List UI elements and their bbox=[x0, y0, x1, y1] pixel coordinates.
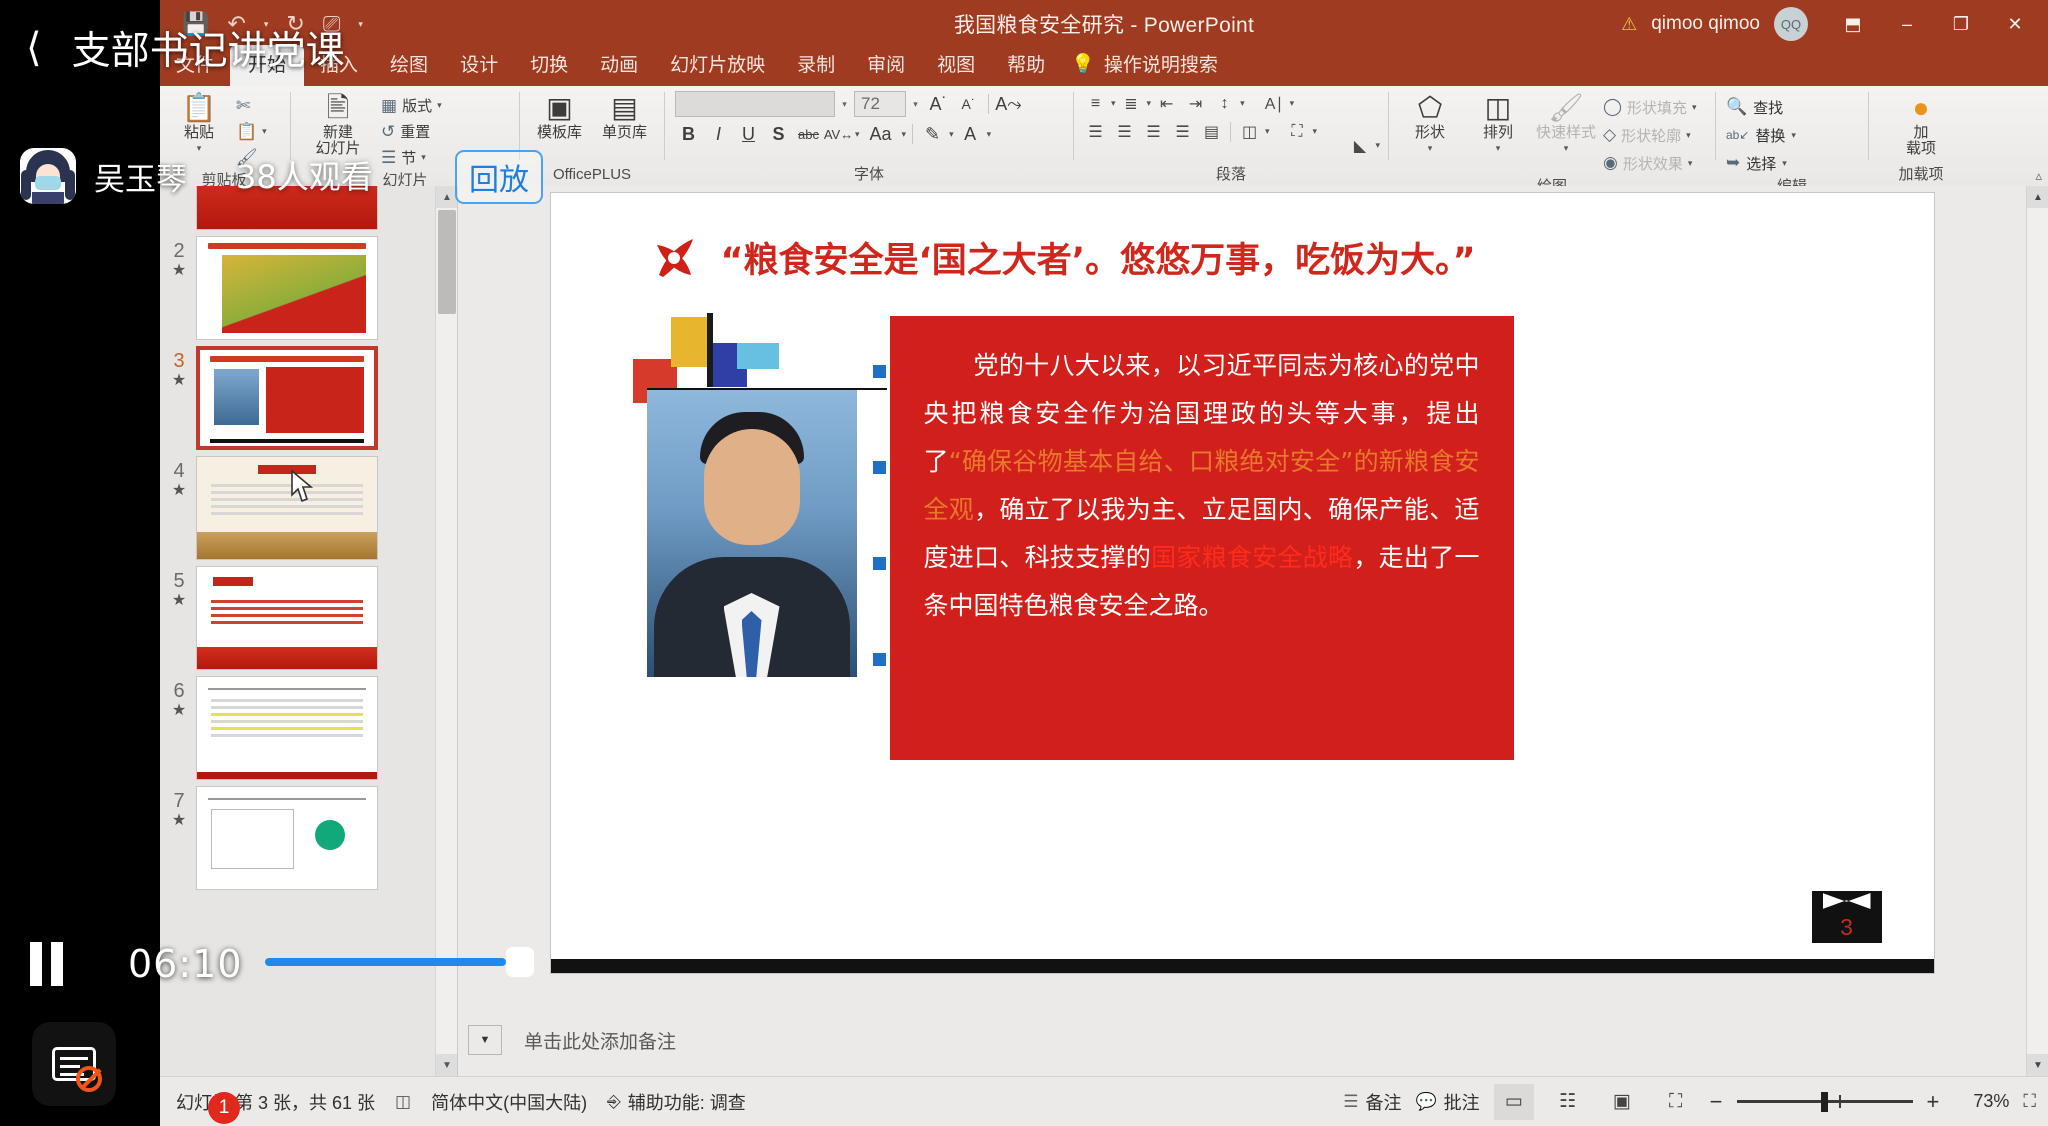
paragraph-row-2: ☰ ☰ ☰ ☰ ▤ ◫ ▾ ⛶ ▾ bbox=[1082, 119, 1317, 144]
zoom-slider-knob[interactable] bbox=[1821, 1092, 1828, 1112]
scroll-up-arrow-icon[interactable]: ▲ bbox=[2027, 186, 2048, 208]
streamer-name: 吴玉琴 bbox=[94, 154, 187, 199]
thumbnail-preview-current[interactable] bbox=[196, 346, 378, 450]
numbered-list-caret[interactable]: ▾ bbox=[1147, 98, 1152, 109]
notes-pane[interactable]: ▼ 单击此处添加备注 bbox=[458, 1004, 2026, 1076]
layout-icon: ▦ bbox=[381, 96, 397, 116]
slide-badge-number: 3 bbox=[1840, 914, 1853, 941]
shape-outline-icon: ◇ bbox=[1603, 125, 1616, 145]
replace-label: 替换 bbox=[1755, 125, 1785, 146]
section-dropdown-caret[interactable]: ▾ bbox=[421, 152, 426, 163]
reading-view-button[interactable]: ▣ bbox=[1602, 1084, 1642, 1120]
comments-toggle-button[interactable]: 💬 批注 bbox=[1416, 1089, 1480, 1115]
close-button[interactable]: ✕ bbox=[1992, 3, 2038, 45]
comment-icon: 💬 bbox=[1416, 1092, 1437, 1112]
align-text-vertical-caret[interactable]: ▾ bbox=[1313, 126, 1318, 137]
italic-button[interactable]: I bbox=[705, 121, 732, 147]
slide-editing-surface[interactable]: “粮食安全是‘国之大者’。悠悠万事，吃饭为大。” 党的十八大以来， bbox=[550, 192, 1935, 974]
list-item[interactable]: 6 ★ bbox=[160, 670, 457, 780]
group-editing: 🔍查找 ab↙替换▾ ➥选择▾ 编辑 bbox=[1718, 86, 1866, 186]
group-paragraph: ≡ ▾ ≣ ▾ ⇤ ⇥ ↕ ▾ A∣ ▾ ☰ ☰ ☰ ☰ ▤ bbox=[1076, 86, 1386, 186]
thumbnail-number: 3 bbox=[173, 350, 184, 372]
font-color-caret[interactable]: ▾ bbox=[987, 129, 992, 140]
align-left-icon[interactable]: ☰ bbox=[1082, 119, 1109, 144]
badge-mark-icon bbox=[1823, 893, 1871, 909]
font-row-1: ▾ 72 ▾ A˙ A˙ A⤳ bbox=[675, 91, 1022, 117]
thumbnail-preview[interactable] bbox=[196, 676, 378, 780]
notes-placeholder[interactable]: 单击此处添加备注 bbox=[524, 1027, 676, 1054]
replay-badge[interactable]: 回放 bbox=[455, 150, 543, 204]
tab-record[interactable]: 录制 bbox=[781, 46, 851, 86]
language-label[interactable]: 简体中文(中国大陆) bbox=[431, 1089, 587, 1115]
group-officeplus-label: OfficePLUS bbox=[522, 164, 662, 186]
thumbnail-meta: 5 ★ bbox=[162, 566, 196, 609]
layout-dropdown-caret[interactable]: ▾ bbox=[437, 100, 442, 111]
ribbon: 📋 粘贴 ▾ ✄ 📋▾ 🖌 剪贴板 🖹 新建 幻灯片 bbox=[160, 86, 2048, 186]
quick-styles-caret[interactable]: ▾ bbox=[1564, 143, 1569, 154]
numbered-list-icon[interactable]: ≣ bbox=[1118, 91, 1145, 116]
spellcheck-icon[interactable]: ◫ bbox=[395, 1092, 411, 1112]
status-bar-right: ☰ 备注 💬 批注 ▭ ☷ ▣ ⛶ − + 73% ⛶ bbox=[1343, 1084, 2036, 1120]
group-addins: ● 加 载项 加载项 bbox=[1871, 86, 1971, 186]
lightbulb-icon: 💡 bbox=[1071, 52, 1095, 76]
list-item[interactable]: 2 ★ bbox=[160, 230, 457, 340]
tell-me-search[interactable]: 💡 操作说明搜索 bbox=[1061, 46, 1228, 86]
animation-star-icon: ★ bbox=[172, 592, 186, 609]
align-center-icon[interactable]: ☰ bbox=[1111, 119, 1138, 144]
quick-styles-icon: 🖌 bbox=[1548, 93, 1584, 123]
template-library-button[interactable]: ▣ 模板库 bbox=[530, 90, 589, 141]
streamer-info[interactable]: 吴玉琴 bbox=[20, 148, 187, 204]
minimize-button[interactable]: – bbox=[1884, 3, 1930, 45]
new-slide-icon: 🖹 bbox=[327, 93, 350, 123]
avatar[interactable] bbox=[20, 148, 76, 204]
slideshow-view-button[interactable]: ⛶ bbox=[1656, 1084, 1696, 1120]
slide-thumbnail-pane[interactable]: 2 ★ 3 ★ bbox=[160, 186, 458, 1076]
thumbnail-preview[interactable] bbox=[196, 456, 378, 560]
increase-indent-icon[interactable]: ⇥ bbox=[1182, 91, 1209, 116]
title-bar: 💾 ↶ ▾ ↻ ⎚ ▾ 我国粮食安全研究 - PowerPoint ⚠ qimo… bbox=[160, 0, 2048, 48]
chevron-left-icon[interactable]: ⟨ bbox=[26, 28, 42, 68]
paste-label: 粘贴 bbox=[184, 125, 214, 141]
chevron-up-icon[interactable]: ▵ bbox=[2035, 168, 2042, 184]
shape-fill-caret[interactable]: ▾ bbox=[1692, 102, 1697, 113]
divider bbox=[1388, 92, 1389, 160]
template-library-icon: ▣ bbox=[546, 93, 572, 123]
list-item[interactable]: 7 ★ bbox=[160, 780, 457, 890]
selection-handle[interactable] bbox=[873, 461, 886, 474]
slide-title-text: “粮食安全是‘国之大者’。悠悠万事，吃饭为大。” bbox=[721, 232, 1476, 283]
thumbnail-meta: 7 ★ bbox=[162, 786, 196, 829]
ribbon-display-options-button[interactable]: ⬒ bbox=[1830, 3, 1876, 45]
shape-fill-button[interactable]: ◯形状填充▾ bbox=[1603, 94, 1697, 120]
thumbnail-preview[interactable] bbox=[196, 786, 378, 890]
shape-effects-caret[interactable]: ▾ bbox=[1688, 158, 1693, 169]
tab-draw[interactable]: 绘图 bbox=[374, 46, 444, 86]
scroll-down-arrow-icon[interactable]: ▼ bbox=[2027, 1054, 2048, 1076]
select-button[interactable]: ➥选择▾ bbox=[1726, 150, 1796, 176]
find-label: 查找 bbox=[1753, 97, 1783, 118]
tab-view[interactable]: 视图 bbox=[921, 46, 991, 86]
divider bbox=[1073, 92, 1074, 160]
slides-small-buttons: ▦版式▾ ↺重置 ☰节▾ bbox=[381, 90, 442, 170]
character-spacing-icon[interactable]: AV↔ bbox=[825, 121, 852, 147]
slide-count-label: 幻灯片 第 3 张，共 61 张 bbox=[176, 1089, 375, 1115]
text-highlight-icon[interactable]: ✎ bbox=[919, 121, 946, 147]
editing-buttons: 🔍查找 ab↙替换▾ ➥选择▾ bbox=[1726, 90, 1796, 176]
group-paragraph-body: ≡ ▾ ≣ ▾ ⇤ ⇥ ↕ ▾ A∣ ▾ ☰ ☰ ☰ ☰ ▤ bbox=[1076, 86, 1386, 164]
thumbnail-number: 6 bbox=[173, 680, 184, 702]
pause-icon[interactable] bbox=[30, 942, 70, 986]
justify-icon[interactable]: ☰ bbox=[1169, 119, 1196, 144]
title-bar-right: ⚠ qimoo qimoo QQ ⬒ – ❐ ✕ bbox=[1621, 0, 2038, 48]
shape-outline-caret[interactable]: ▾ bbox=[1686, 130, 1691, 141]
shapes-caret[interactable]: ▾ bbox=[1428, 143, 1433, 154]
status-bar-left: 幻灯片 第 3 张，共 61 张 ◫ 简体中文(中国大陆) ⎆ 辅助功能: 调查 bbox=[160, 1089, 746, 1115]
tab-animations[interactable]: 动画 bbox=[584, 46, 654, 86]
scrollbar-thumb[interactable] bbox=[438, 210, 456, 314]
shape-outline-label: 形状轮廓 bbox=[1621, 125, 1681, 146]
addin-dot-icon: ● bbox=[1913, 93, 1930, 123]
status-bar: 幻灯片 第 3 张，共 61 张 ◫ 简体中文(中国大陆) ⎆ 辅助功能: 调查… bbox=[160, 1076, 2048, 1126]
font-name-input[interactable] bbox=[675, 91, 835, 117]
zoom-slider-midpoint bbox=[1839, 1095, 1841, 1108]
thumbnail-number: 5 bbox=[173, 570, 184, 592]
selection-handle[interactable] bbox=[873, 653, 886, 666]
editor-main: 2 ★ 3 ★ bbox=[160, 186, 2048, 1076]
single-page-library-icon: ▤ bbox=[611, 93, 637, 123]
smartart-caret[interactable]: ▾ bbox=[1375, 140, 1380, 151]
paste-dropdown-caret[interactable]: ▾ bbox=[197, 143, 202, 154]
group-officeplus-body: ▣ 模板库 ▤ 单页库 bbox=[522, 86, 662, 164]
quick-styles-label: 快速样式 bbox=[1536, 125, 1596, 141]
tab-transitions[interactable]: 切换 bbox=[514, 46, 584, 86]
group-editing-body: 🔍查找 ab↙替换▾ ➥选择▾ bbox=[1718, 86, 1866, 176]
strikethrough-button[interactable]: abc bbox=[795, 121, 822, 147]
shape-fill-icon: ◯ bbox=[1603, 97, 1622, 117]
line-spacing-caret[interactable]: ▾ bbox=[1240, 98, 1245, 109]
font-size-dropdown-caret[interactable]: ▾ bbox=[909, 91, 922, 117]
group-addins-label: 加载项 bbox=[1871, 164, 1971, 186]
notes-toggle-button[interactable]: ☰ 备注 bbox=[1343, 1089, 1401, 1115]
paste-clipboard-icon: 📋 bbox=[182, 93, 217, 123]
replace-button[interactable]: ab↙替换▾ bbox=[1726, 122, 1796, 148]
slide-title-block[interactable]: “粮食安全是‘国之大者’。悠悠万事，吃饭为大。” bbox=[649, 231, 1874, 283]
reset-icon: ↺ bbox=[381, 122, 395, 142]
addins-button[interactable]: ● 加 载项 bbox=[1890, 90, 1952, 157]
animation-star-icon: ★ bbox=[172, 482, 186, 499]
comments-label: 批注 bbox=[1444, 1089, 1480, 1115]
find-button[interactable]: 🔍查找 bbox=[1726, 94, 1796, 120]
group-officeplus: ▣ 模板库 ▤ 单页库 OfficePLUS bbox=[522, 86, 662, 186]
distribute-icon[interactable]: ▤ bbox=[1198, 119, 1225, 144]
normal-view-button[interactable]: ▭ bbox=[1494, 1084, 1534, 1120]
shape-effects-button[interactable]: ◉形状效果▾ bbox=[1603, 150, 1697, 176]
ribbon-tabs: 文件 开始 插入 绘图 设计 切换 动画 幻灯片放映 录制 审阅 视图 帮助 💡… bbox=[160, 48, 2048, 86]
group-paragraph-label: 段落 bbox=[1076, 164, 1386, 186]
font-name-dropdown-caret[interactable]: ▾ bbox=[838, 91, 851, 117]
shapes-button[interactable]: ⬠ 形状 ▾ bbox=[1399, 90, 1461, 154]
section-button[interactable]: ☰节▾ bbox=[381, 145, 442, 170]
accessibility-label: 辅助功能: 调查 bbox=[628, 1089, 746, 1115]
group-font-label: 字体 bbox=[667, 164, 1071, 186]
restore-button[interactable]: ❐ bbox=[1938, 3, 1984, 45]
slide-sorter-view-button[interactable]: ☷ bbox=[1548, 1084, 1588, 1120]
paste-button[interactable]: 📋 粘贴 ▾ bbox=[168, 90, 230, 154]
zoom-percent-label[interactable]: 73% bbox=[1953, 1091, 2009, 1112]
selection-handle[interactable] bbox=[873, 365, 886, 378]
warning-triangle-icon[interactable]: ⚠ bbox=[1621, 14, 1637, 35]
progress-slider[interactable] bbox=[265, 958, 1928, 968]
group-font-body: ▾ 72 ▾ A˙ A˙ A⤳ B I U S abc AV↔ ▾ Aa bbox=[667, 86, 1071, 164]
font-color-button[interactable]: A bbox=[957, 121, 984, 147]
arrange-button[interactable]: ◫ 排列 ▾ bbox=[1467, 90, 1529, 154]
list-item[interactable]: 3 ★ bbox=[160, 340, 457, 450]
content-paragraph: 党的十八大以来，以习近平同志为核心的党中央把粮食安全作为治国理政的头等大事，提出… bbox=[924, 342, 1480, 630]
new-slide-button[interactable]: 🖹 新建 幻灯片 bbox=[301, 90, 375, 157]
mouse-cursor bbox=[290, 470, 316, 504]
group-addins-body: ● 加 载项 bbox=[1871, 86, 1971, 164]
reset-label: 重置 bbox=[400, 121, 430, 142]
drawing-small-buttons: ◯形状填充▾ ◇形状轮廓▾ ◉形状效果▾ bbox=[1603, 90, 1697, 176]
shapes-icon: ⬠ bbox=[1418, 93, 1442, 123]
replace-caret[interactable]: ▾ bbox=[1791, 130, 1796, 141]
shrink-font-icon[interactable]: A˙ bbox=[955, 91, 982, 117]
line-spacing-icon[interactable]: ↕ bbox=[1211, 91, 1238, 116]
thumbnail-number: 2 bbox=[173, 240, 184, 262]
accessibility-status[interactable]: ⎆ 辅助功能: 调查 bbox=[607, 1089, 746, 1115]
tab-slideshow[interactable]: 幻灯片放映 bbox=[654, 46, 781, 86]
portrait-photo[interactable] bbox=[647, 389, 857, 677]
thumbnail-number: 7 bbox=[173, 790, 184, 812]
replace-icon: ab↙ bbox=[1726, 128, 1749, 142]
animation-star-icon: ★ bbox=[172, 372, 186, 389]
animation-star-icon: ★ bbox=[172, 812, 186, 829]
font-row-2: B I U S abc AV↔ ▾ Aa ▾ ✎ ▾ A ▾ bbox=[675, 121, 991, 147]
thumbnail-meta: 3 ★ bbox=[162, 346, 196, 389]
bullet-list-icon[interactable]: ≡ bbox=[1082, 91, 1109, 116]
viewer-count: 38人观看 bbox=[236, 152, 373, 198]
group-drawing: ⬠ 形状 ▾ ◫ 排列 ▾ 🖌 快速样式 ▾ ◯形状填充▾ ◇形状轮廓▾ bbox=[1391, 86, 1713, 186]
text-shadow-button[interactable]: S bbox=[765, 121, 792, 147]
convert-to-smartart-icon[interactable]: ◣ bbox=[1346, 133, 1373, 158]
thumbnail-meta: 2 ★ bbox=[162, 236, 196, 279]
canvas-scrollbar[interactable]: ▲ ▼ bbox=[2026, 186, 2048, 1076]
shape-effects-icon: ◉ bbox=[1603, 153, 1618, 173]
animation-star-icon: ★ bbox=[172, 702, 186, 719]
avatar[interactable]: QQ bbox=[1774, 7, 1808, 41]
danmaku-off-icon[interactable] bbox=[32, 1022, 116, 1106]
columns-icon[interactable]: ◫ bbox=[1236, 119, 1263, 144]
font-size-input[interactable]: 72 bbox=[854, 91, 906, 117]
divider bbox=[1868, 92, 1869, 160]
hammer-sickle-icon bbox=[649, 231, 701, 283]
reset-button[interactable]: ↺重置 bbox=[381, 119, 442, 144]
slide-number-badge: 3 bbox=[1812, 891, 1882, 943]
minus-icon[interactable]: − bbox=[1710, 1089, 1723, 1115]
slide-canvas-area: “粮食安全是‘国之大者’。悠悠万事，吃饭为大。” 党的十八大以来， bbox=[458, 186, 2026, 1004]
notes-icon: ☰ bbox=[1343, 1092, 1358, 1112]
plus-icon[interactable]: + bbox=[1927, 1089, 1940, 1115]
decrease-indent-icon[interactable]: ⇤ bbox=[1153, 91, 1180, 116]
grow-font-icon[interactable]: A˙ bbox=[925, 91, 952, 117]
bold-button[interactable]: B bbox=[675, 121, 702, 147]
select-label: 选择 bbox=[1746, 153, 1776, 174]
addins-label: 加 载项 bbox=[1906, 125, 1936, 157]
chevron-down-icon[interactable]: ▼ bbox=[468, 1025, 502, 1055]
divider bbox=[664, 92, 665, 160]
shape-fill-label: 形状填充 bbox=[1627, 97, 1687, 118]
change-case-caret[interactable]: ▾ bbox=[902, 129, 907, 140]
scissors-icon: ✄ bbox=[236, 96, 250, 116]
divider bbox=[1230, 122, 1231, 142]
layout-button[interactable]: ▦版式▾ bbox=[381, 93, 442, 118]
tab-design[interactable]: 设计 bbox=[444, 46, 514, 86]
smartart-row: ◣ ▾ bbox=[1346, 133, 1380, 158]
section-label: 节 bbox=[401, 147, 416, 168]
scroll-down-arrow-icon[interactable]: ▼ bbox=[436, 1054, 458, 1076]
progress-knob[interactable] bbox=[506, 947, 534, 977]
page-library-label: 单页库 bbox=[602, 125, 647, 141]
select-pointer-icon: ➥ bbox=[1726, 153, 1740, 173]
group-drawing-body: ⬠ 形状 ▾ ◫ 排列 ▾ 🖌 快速样式 ▾ ◯形状填充▾ ◇形状轮廓▾ bbox=[1391, 86, 1713, 176]
live-header: ⟨ 支部书记讲党课 bbox=[26, 20, 345, 76]
divider bbox=[988, 94, 989, 114]
thumbnail-meta: 4 ★ bbox=[162, 456, 196, 499]
selection-handle[interactable] bbox=[873, 557, 886, 570]
thumbnail-scrollbar[interactable]: ▲ ▼ bbox=[435, 186, 457, 1076]
thumbnail-number: 4 bbox=[173, 460, 184, 482]
divider bbox=[290, 92, 291, 160]
list-item[interactable]: 5 ★ bbox=[160, 560, 457, 670]
arrange-icon: ◫ bbox=[1485, 93, 1511, 123]
notes-label: 备注 bbox=[1366, 1089, 1402, 1115]
paragraph-row-1: ≡ ▾ ≣ ▾ ⇤ ⇥ ↕ ▾ A∣ ▾ bbox=[1082, 91, 1294, 116]
zoom-slider[interactable] bbox=[1737, 1093, 1913, 1111]
shape-effects-label: 形状效果 bbox=[1623, 153, 1683, 174]
search-icon: 🔍 bbox=[1726, 97, 1747, 117]
page-library-button[interactable]: ▤ 单页库 bbox=[595, 90, 654, 141]
shapes-label: 形状 bbox=[1415, 125, 1445, 141]
tab-help[interactable]: 帮助 bbox=[991, 46, 1061, 86]
live-title: 支部书记讲党课 bbox=[72, 20, 345, 76]
divider bbox=[1715, 92, 1716, 160]
group-font: ▾ 72 ▾ A˙ A˙ A⤳ B I U S abc AV↔ ▾ Aa bbox=[667, 86, 1071, 186]
notification-badge[interactable]: 1 bbox=[208, 1092, 240, 1124]
divider bbox=[912, 124, 913, 144]
text-direction-icon[interactable]: A∣ bbox=[1261, 91, 1288, 116]
copy-dropdown-caret[interactable]: ▾ bbox=[262, 126, 267, 137]
thumbnail-meta: 6 ★ bbox=[162, 676, 196, 719]
quick-styles-button[interactable]: 🖌 快速样式 ▾ bbox=[1535, 90, 1597, 154]
copy-button[interactable]: 📋▾ bbox=[236, 119, 267, 144]
progress-bar-fill bbox=[265, 958, 506, 966]
thumbnail-preview[interactable] bbox=[196, 566, 378, 670]
shape-outline-button[interactable]: ◇形状轮廓▾ bbox=[1603, 122, 1697, 148]
layout-label: 版式 bbox=[402, 95, 432, 116]
copy-icon: 📋 bbox=[236, 122, 257, 142]
select-caret[interactable]: ▾ bbox=[1782, 158, 1787, 169]
body-highlight-2: 国家粮食安全战略 bbox=[1151, 543, 1353, 572]
account-name[interactable]: qimoo qimoo bbox=[1651, 13, 1760, 35]
template-library-label: 模板库 bbox=[537, 125, 582, 141]
animation-star-icon: ★ bbox=[172, 262, 186, 279]
text-direction-caret[interactable]: ▾ bbox=[1290, 98, 1295, 109]
text-highlight-caret[interactable]: ▾ bbox=[949, 129, 954, 140]
fit-to-window-icon[interactable]: ⛶ bbox=[2023, 1091, 2036, 1112]
list-item[interactable]: 4 ★ bbox=[160, 450, 457, 560]
tell-me-label: 操作说明搜索 bbox=[1104, 50, 1218, 77]
align-right-icon[interactable]: ☰ bbox=[1140, 119, 1167, 144]
bullet-list-caret[interactable]: ▾ bbox=[1111, 98, 1116, 109]
align-text-vertical-icon[interactable]: ⛶ bbox=[1284, 119, 1311, 144]
clear-formatting-icon[interactable]: A⤳ bbox=[995, 91, 1022, 117]
cut-button[interactable]: ✄ bbox=[236, 93, 267, 118]
character-spacing-caret[interactable]: ▾ bbox=[855, 129, 860, 140]
arrange-caret[interactable]: ▾ bbox=[1496, 143, 1501, 154]
thumbnail-preview[interactable] bbox=[196, 236, 378, 340]
section-icon: ☰ bbox=[381, 148, 396, 168]
columns-caret[interactable]: ▾ bbox=[1265, 126, 1270, 137]
content-textbox[interactable]: 党的十八大以来，以习近平同志为核心的党中央把粮食安全作为治国理政的头等大事，提出… bbox=[887, 313, 1517, 763]
underline-button[interactable]: U bbox=[735, 121, 762, 147]
accessibility-icon: ⎆ bbox=[607, 1092, 621, 1112]
tab-review[interactable]: 审阅 bbox=[851, 46, 921, 86]
arrange-label: 排列 bbox=[1483, 125, 1513, 141]
change-case-button[interactable]: Aa bbox=[863, 121, 899, 147]
